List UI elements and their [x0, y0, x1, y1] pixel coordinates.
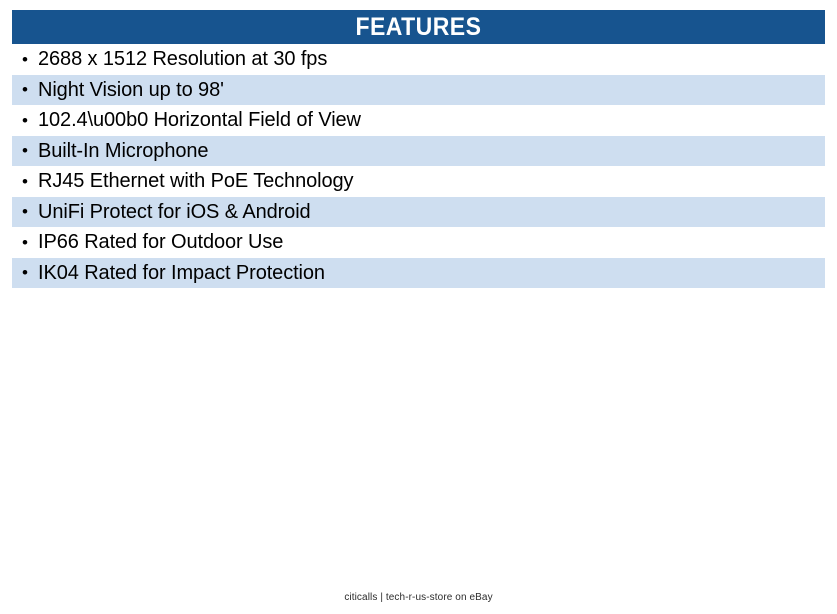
footer-credit: citicalls | tech-r-us-store on eBay: [0, 592, 837, 604]
bullet-icon: •: [22, 264, 38, 281]
feature-item-label: Built-In Microphone: [38, 140, 825, 162]
features-sheet: FEATURES •2688 x 1512 Resolution at 30 f…: [0, 0, 837, 614]
feature-list-item: •Night Vision up to 98': [12, 75, 825, 106]
feature-item-label: UniFi Protect for iOS & Android: [38, 201, 825, 223]
features-header-banner: FEATURES: [12, 10, 825, 44]
feature-item-label: Night Vision up to 98': [38, 79, 825, 101]
feature-list-item: •RJ45 Ethernet with PoE Technology: [12, 166, 825, 197]
feature-item-label: 102.4\u00b0 Horizontal Field of View: [38, 109, 825, 131]
bullet-icon: •: [22, 112, 38, 129]
feature-list: •2688 x 1512 Resolution at 30 fps•Night …: [12, 44, 825, 288]
bullet-icon: •: [22, 142, 38, 159]
feature-list-item: •IP66 Rated for Outdoor Use: [12, 227, 825, 258]
feature-item-label: IK04 Rated for Impact Protection: [38, 262, 825, 284]
feature-item-label: 2688 x 1512 Resolution at 30 fps: [38, 48, 825, 70]
page-title: FEATURES: [356, 15, 482, 40]
feature-list-item: •102.4\u00b0 Horizontal Field of View: [12, 105, 825, 136]
bullet-icon: •: [22, 51, 38, 68]
feature-list-item: •IK04 Rated for Impact Protection: [12, 258, 825, 289]
feature-item-label: RJ45 Ethernet with PoE Technology: [38, 170, 825, 192]
feature-list-item: •2688 x 1512 Resolution at 30 fps: [12, 44, 825, 75]
bullet-icon: •: [22, 81, 38, 98]
bullet-icon: •: [22, 234, 38, 251]
feature-item-label: IP66 Rated for Outdoor Use: [38, 231, 825, 253]
feature-list-item: •UniFi Protect for iOS & Android: [12, 197, 825, 228]
bullet-icon: •: [22, 203, 38, 220]
feature-list-item: •Built-In Microphone: [12, 136, 825, 167]
bullet-icon: •: [22, 173, 38, 190]
